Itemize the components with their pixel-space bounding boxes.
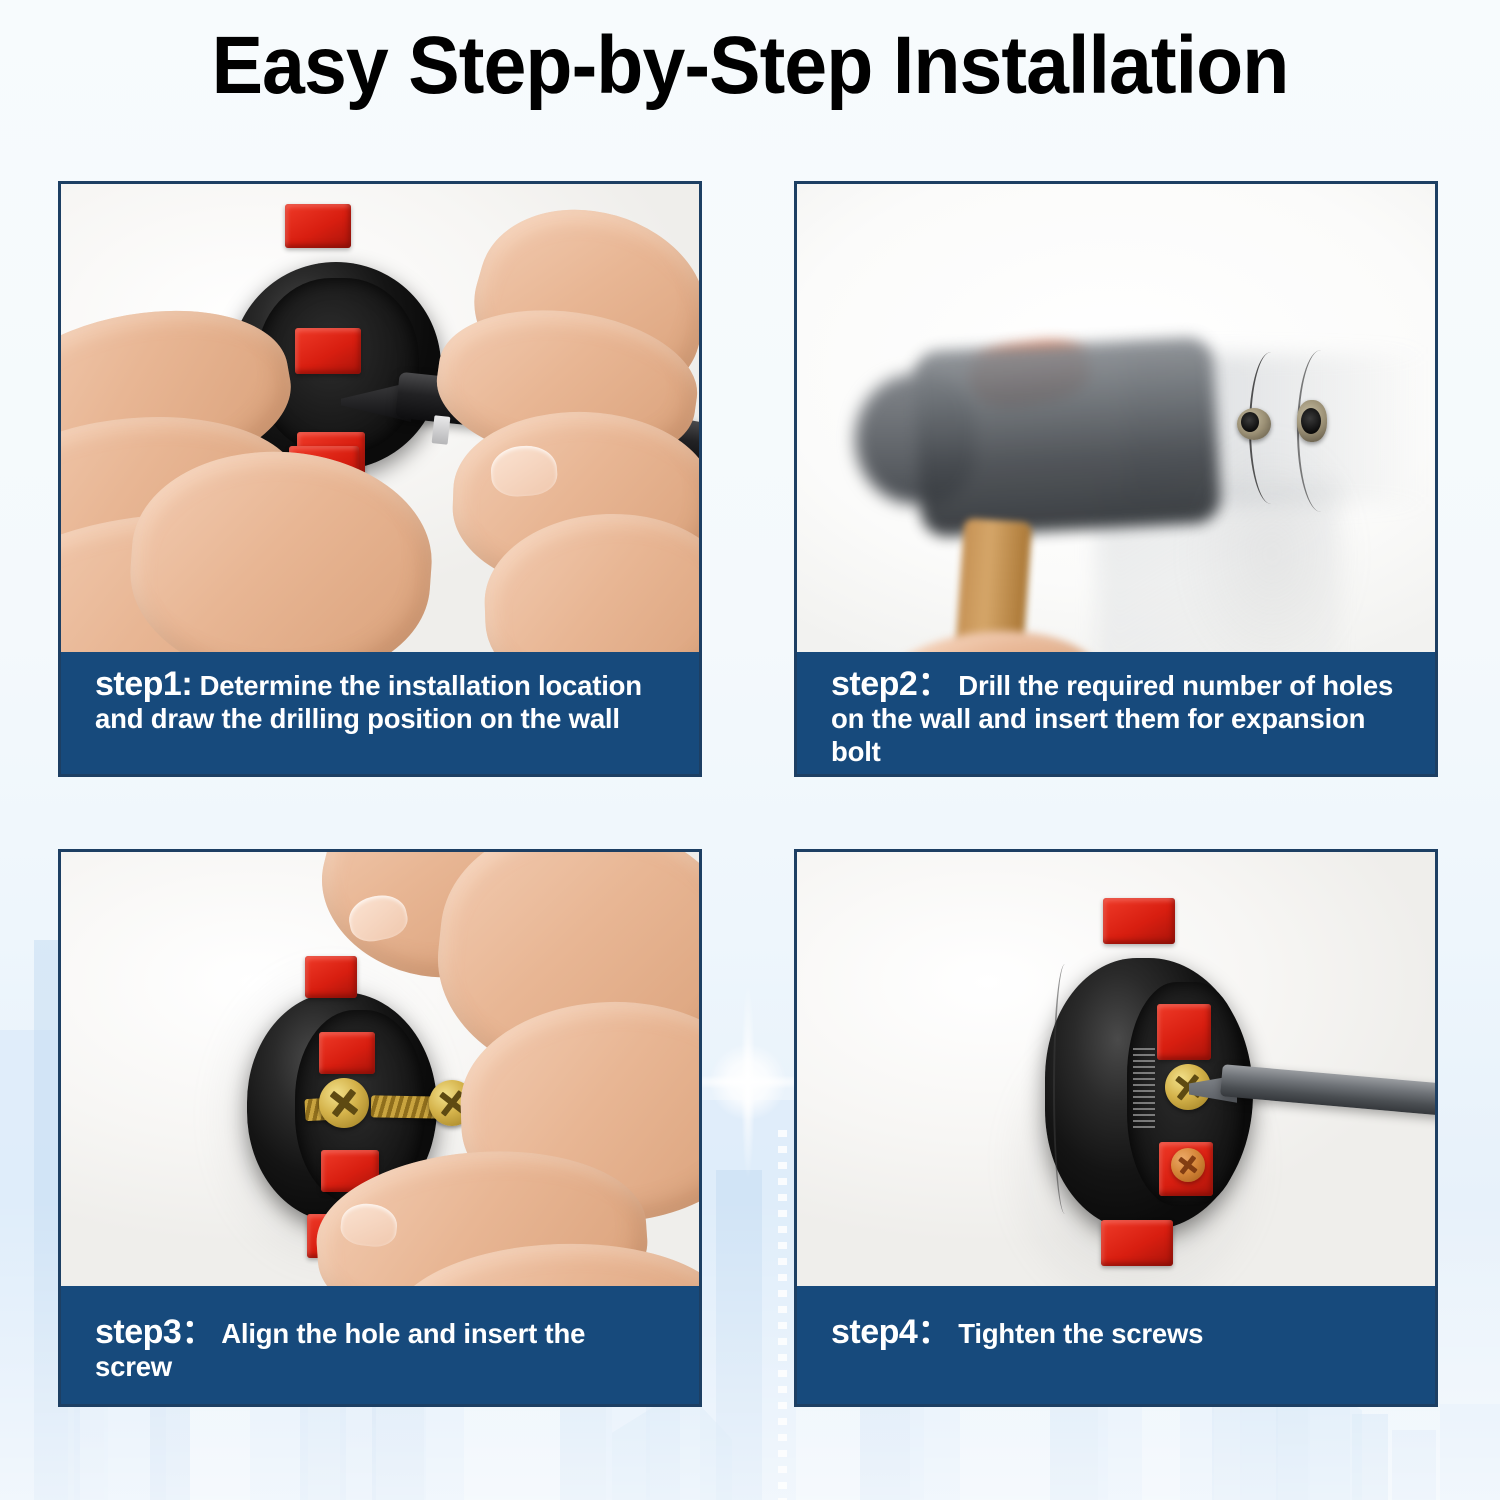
step-3-label: step3： xyxy=(95,1313,215,1351)
step-1-photo xyxy=(61,184,699,652)
bolt-hole xyxy=(1301,408,1321,434)
step-2-label: step2： xyxy=(831,665,951,703)
step-1-label: step1: xyxy=(95,665,192,703)
step-panel-3: step3： Align the hole and insert the scr… xyxy=(58,849,702,1407)
step-panel-2: step2： Drill the required number of hole… xyxy=(794,181,1438,777)
step-1-caption: step1: Determine the installation locati… xyxy=(61,652,699,774)
step-3-caption: step3： Align the hole and insert the scr… xyxy=(61,1286,699,1404)
red-tab-bottom xyxy=(1101,1220,1173,1266)
screw-head xyxy=(319,1078,369,1128)
red-tab-top xyxy=(1103,898,1175,944)
red-tab-top xyxy=(305,956,357,998)
step-2-photo xyxy=(797,184,1435,652)
page-title: Easy Step-by-Step Installation xyxy=(45,18,1455,114)
step-3-photo xyxy=(61,852,699,1286)
hammer-head xyxy=(912,336,1221,537)
step-4-photo xyxy=(797,852,1435,1286)
red-tab-top xyxy=(285,204,351,248)
step-4-text: Tighten the screws xyxy=(958,1318,1203,1349)
step-panel-4: step4： Tighten the screws xyxy=(794,849,1438,1407)
screw-head xyxy=(1171,1148,1205,1182)
step-2-caption: step2： Drill the required number of hole… xyxy=(797,652,1435,774)
wall-crack xyxy=(1053,964,1077,1214)
step-4-caption: step4： Tighten the screws xyxy=(797,1286,1435,1404)
step-4-label: step4： xyxy=(831,1313,951,1351)
step-panel-1: step1: Determine the installation locati… xyxy=(58,181,702,777)
